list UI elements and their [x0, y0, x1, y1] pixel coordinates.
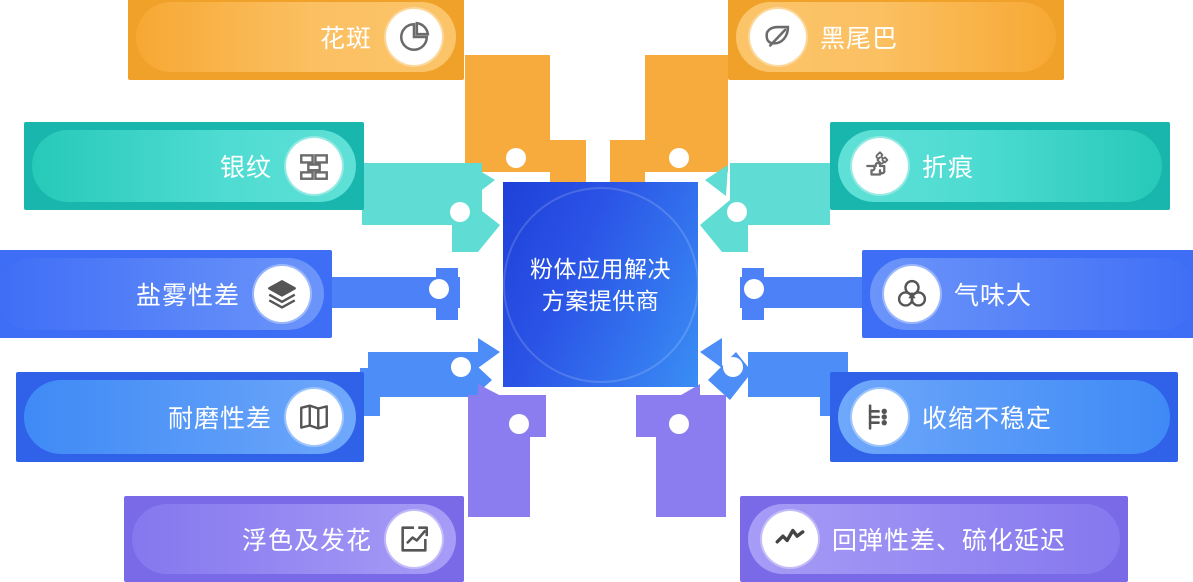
- open-book-icon: [286, 389, 342, 445]
- line-chart-icon: [762, 511, 818, 567]
- node-yinwen[interactable]: 银纹: [24, 122, 364, 210]
- center-node: 粉体应用解决 方案提供商: [503, 182, 698, 387]
- node-pill[interactable]: 黑尾巴: [736, 2, 1056, 72]
- layers-icon: [254, 266, 310, 322]
- node-pill[interactable]: 回弹性差、硫化延迟: [748, 504, 1120, 574]
- node-huitanxingcha[interactable]: 回弹性差、硫化延迟: [740, 496, 1128, 582]
- node-label: 折痕: [922, 148, 974, 184]
- node-label: 花斑: [320, 19, 372, 55]
- node-pill[interactable]: 收缩不稳定: [838, 380, 1170, 454]
- node-pill[interactable]: 浮色及发花: [132, 504, 456, 574]
- chart-arrow-icon: [386, 511, 442, 567]
- node-pill[interactable]: 折痕: [838, 130, 1162, 202]
- node-huaban[interactable]: 花斑: [128, 0, 464, 80]
- node-yanwuxingcha[interactable]: 盐雾性差: [0, 250, 332, 338]
- node-pill[interactable]: 银纹: [32, 130, 356, 202]
- node-zhehen[interactable]: 折痕: [830, 122, 1170, 210]
- leaf-icon: [750, 9, 806, 65]
- node-pill[interactable]: 耐磨性差: [24, 380, 356, 454]
- node-label: 收缩不稳定: [922, 399, 1052, 435]
- center-title: 粉体应用解决 方案提供商: [503, 253, 698, 317]
- connector-zhehen: [700, 163, 830, 252]
- node-pill[interactable]: 花斑: [136, 2, 456, 72]
- connector-fusejifahua: [468, 384, 546, 517]
- puzzle-icon: [852, 138, 908, 194]
- connector-yinwen: [362, 163, 500, 252]
- connector-yanwuxingcha: [330, 268, 460, 320]
- node-fusejifahua[interactable]: 浮色及发花: [124, 496, 464, 582]
- node-shousuobuwending[interactable]: 收缩不稳定: [830, 372, 1178, 462]
- diagram-canvas: 粉体应用解决 方案提供商 花斑 银纹: [0, 0, 1193, 577]
- connector-qiweida: [740, 268, 870, 320]
- sitemap-icon: [852, 389, 908, 445]
- recycle-icon: [884, 266, 940, 322]
- node-label: 浮色及发花: [242, 521, 372, 557]
- node-pill[interactable]: 气味大: [870, 258, 1193, 330]
- node-label: 盐雾性差: [136, 276, 240, 312]
- connector-huitanxingcha: [636, 384, 726, 517]
- pie-chart-icon: [386, 9, 442, 65]
- brick-wall-icon: [286, 138, 342, 194]
- node-label: 回弹性差、硫化延迟: [832, 521, 1066, 557]
- node-label: 银纹: [220, 148, 272, 184]
- node-pill[interactable]: 盐雾性差: [0, 258, 324, 330]
- node-label: 黑尾巴: [820, 19, 898, 55]
- connector-heiweiba: [610, 55, 728, 182]
- node-label: 气味大: [954, 276, 1032, 312]
- connector-huaban: [465, 55, 586, 182]
- node-heiweiba[interactable]: 黑尾巴: [728, 0, 1064, 80]
- node-qiweida[interactable]: 气味大: [862, 250, 1193, 338]
- node-label: 耐磨性差: [168, 399, 272, 435]
- node-naimoxingcha[interactable]: 耐磨性差: [16, 372, 364, 462]
